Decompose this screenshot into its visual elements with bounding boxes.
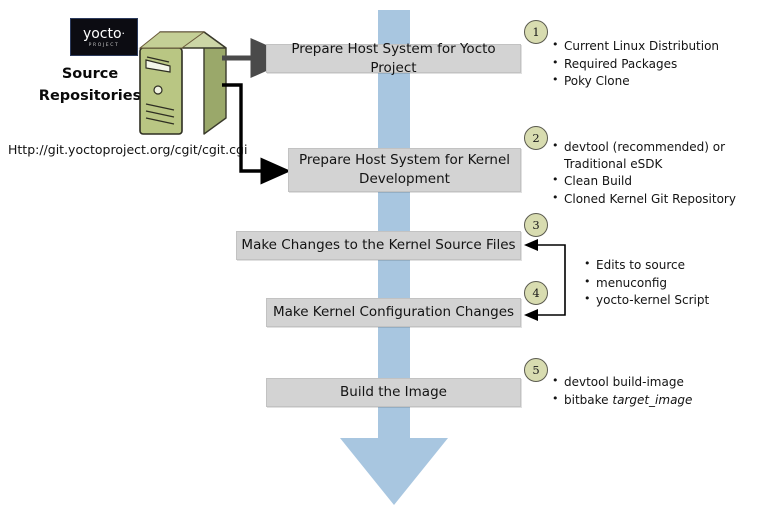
process-box-make-kernel-source-changes[interactable]: Make Changes to the Kernel Source Files [236,231,521,260]
step-badge-3: 3 [524,213,548,237]
list-item: Clean Build [552,173,757,190]
process-box-build-image[interactable]: Build the Image [266,378,521,407]
box-4-label: Make Kernel Configuration Changes [273,303,514,322]
list-item: menuconfig [584,275,759,292]
list-item: Poky Clone [552,73,752,90]
step-badge-4: 4 [524,281,548,305]
box-2-label-line2: Development [359,171,450,187]
yocto-logo: yocto· PROJECT [70,18,138,56]
server-icon [136,24,228,138]
note-5-italic-variable: target_image [612,393,692,407]
box-5-label: Build the Image [340,383,447,402]
list-item: Required Packages [552,56,752,73]
list-item: devtool (recommended) or Traditional eSD… [552,139,757,172]
yocto-logo-text: yocto [83,26,122,42]
box-1-label: Prepare Host System for Yocto Project [267,40,520,78]
list-item: devtool build-image [552,374,752,391]
process-box-make-kernel-config-changes[interactable]: Make Kernel Configuration Changes [266,298,521,327]
list-item: bitbake target_image [552,392,752,409]
step-1-notes: Current Linux Distribution Required Pack… [552,38,752,91]
yocto-logo-dot: · [122,27,126,40]
yocto-logo-subtitle: PROJECT [89,43,120,48]
process-box-prepare-host-yocto[interactable]: Prepare Host System for Yocto Project [266,44,521,73]
diagram-canvas: yocto· PROJECT Source Repositories Http:… [0,0,769,517]
step-2-notes: devtool (recommended) or Traditional eSD… [552,139,757,208]
yocto-logo-wordmark: yocto· [83,27,125,41]
box-3-label: Make Changes to the Kernel Source Files [241,236,515,255]
step-badge-5: 5 [524,358,548,382]
step-badge-1: 1 [524,20,548,44]
step-badge-2: 2 [524,126,548,150]
list-item: Edits to source [584,257,759,274]
box-2-label: Prepare Host System for Kernel Developme… [299,151,510,189]
box-2-label-line1: Prepare Host System for Kernel [299,152,510,168]
source-label-line2: Repositories [30,85,150,107]
list-item: yocto-kernel Script [584,292,759,309]
steps-3-4-shared-notes: Edits to source menuconfig yocto-kernel … [584,257,759,310]
source-repository-url: Http://git.yoctoproject.org/cgit/cgit.cg… [8,142,247,157]
list-item: Cloned Kernel Git Repository [552,191,757,208]
source-label-line1: Source [30,63,150,85]
list-item: Current Linux Distribution [552,38,752,55]
note-5-prefix: bitbake [564,393,612,407]
process-box-prepare-host-kernel[interactable]: Prepare Host System for Kernel Developme… [288,148,521,192]
source-repositories-label: Source Repositories [30,63,150,107]
step-5-notes: devtool build-image bitbake target_image [552,374,752,409]
